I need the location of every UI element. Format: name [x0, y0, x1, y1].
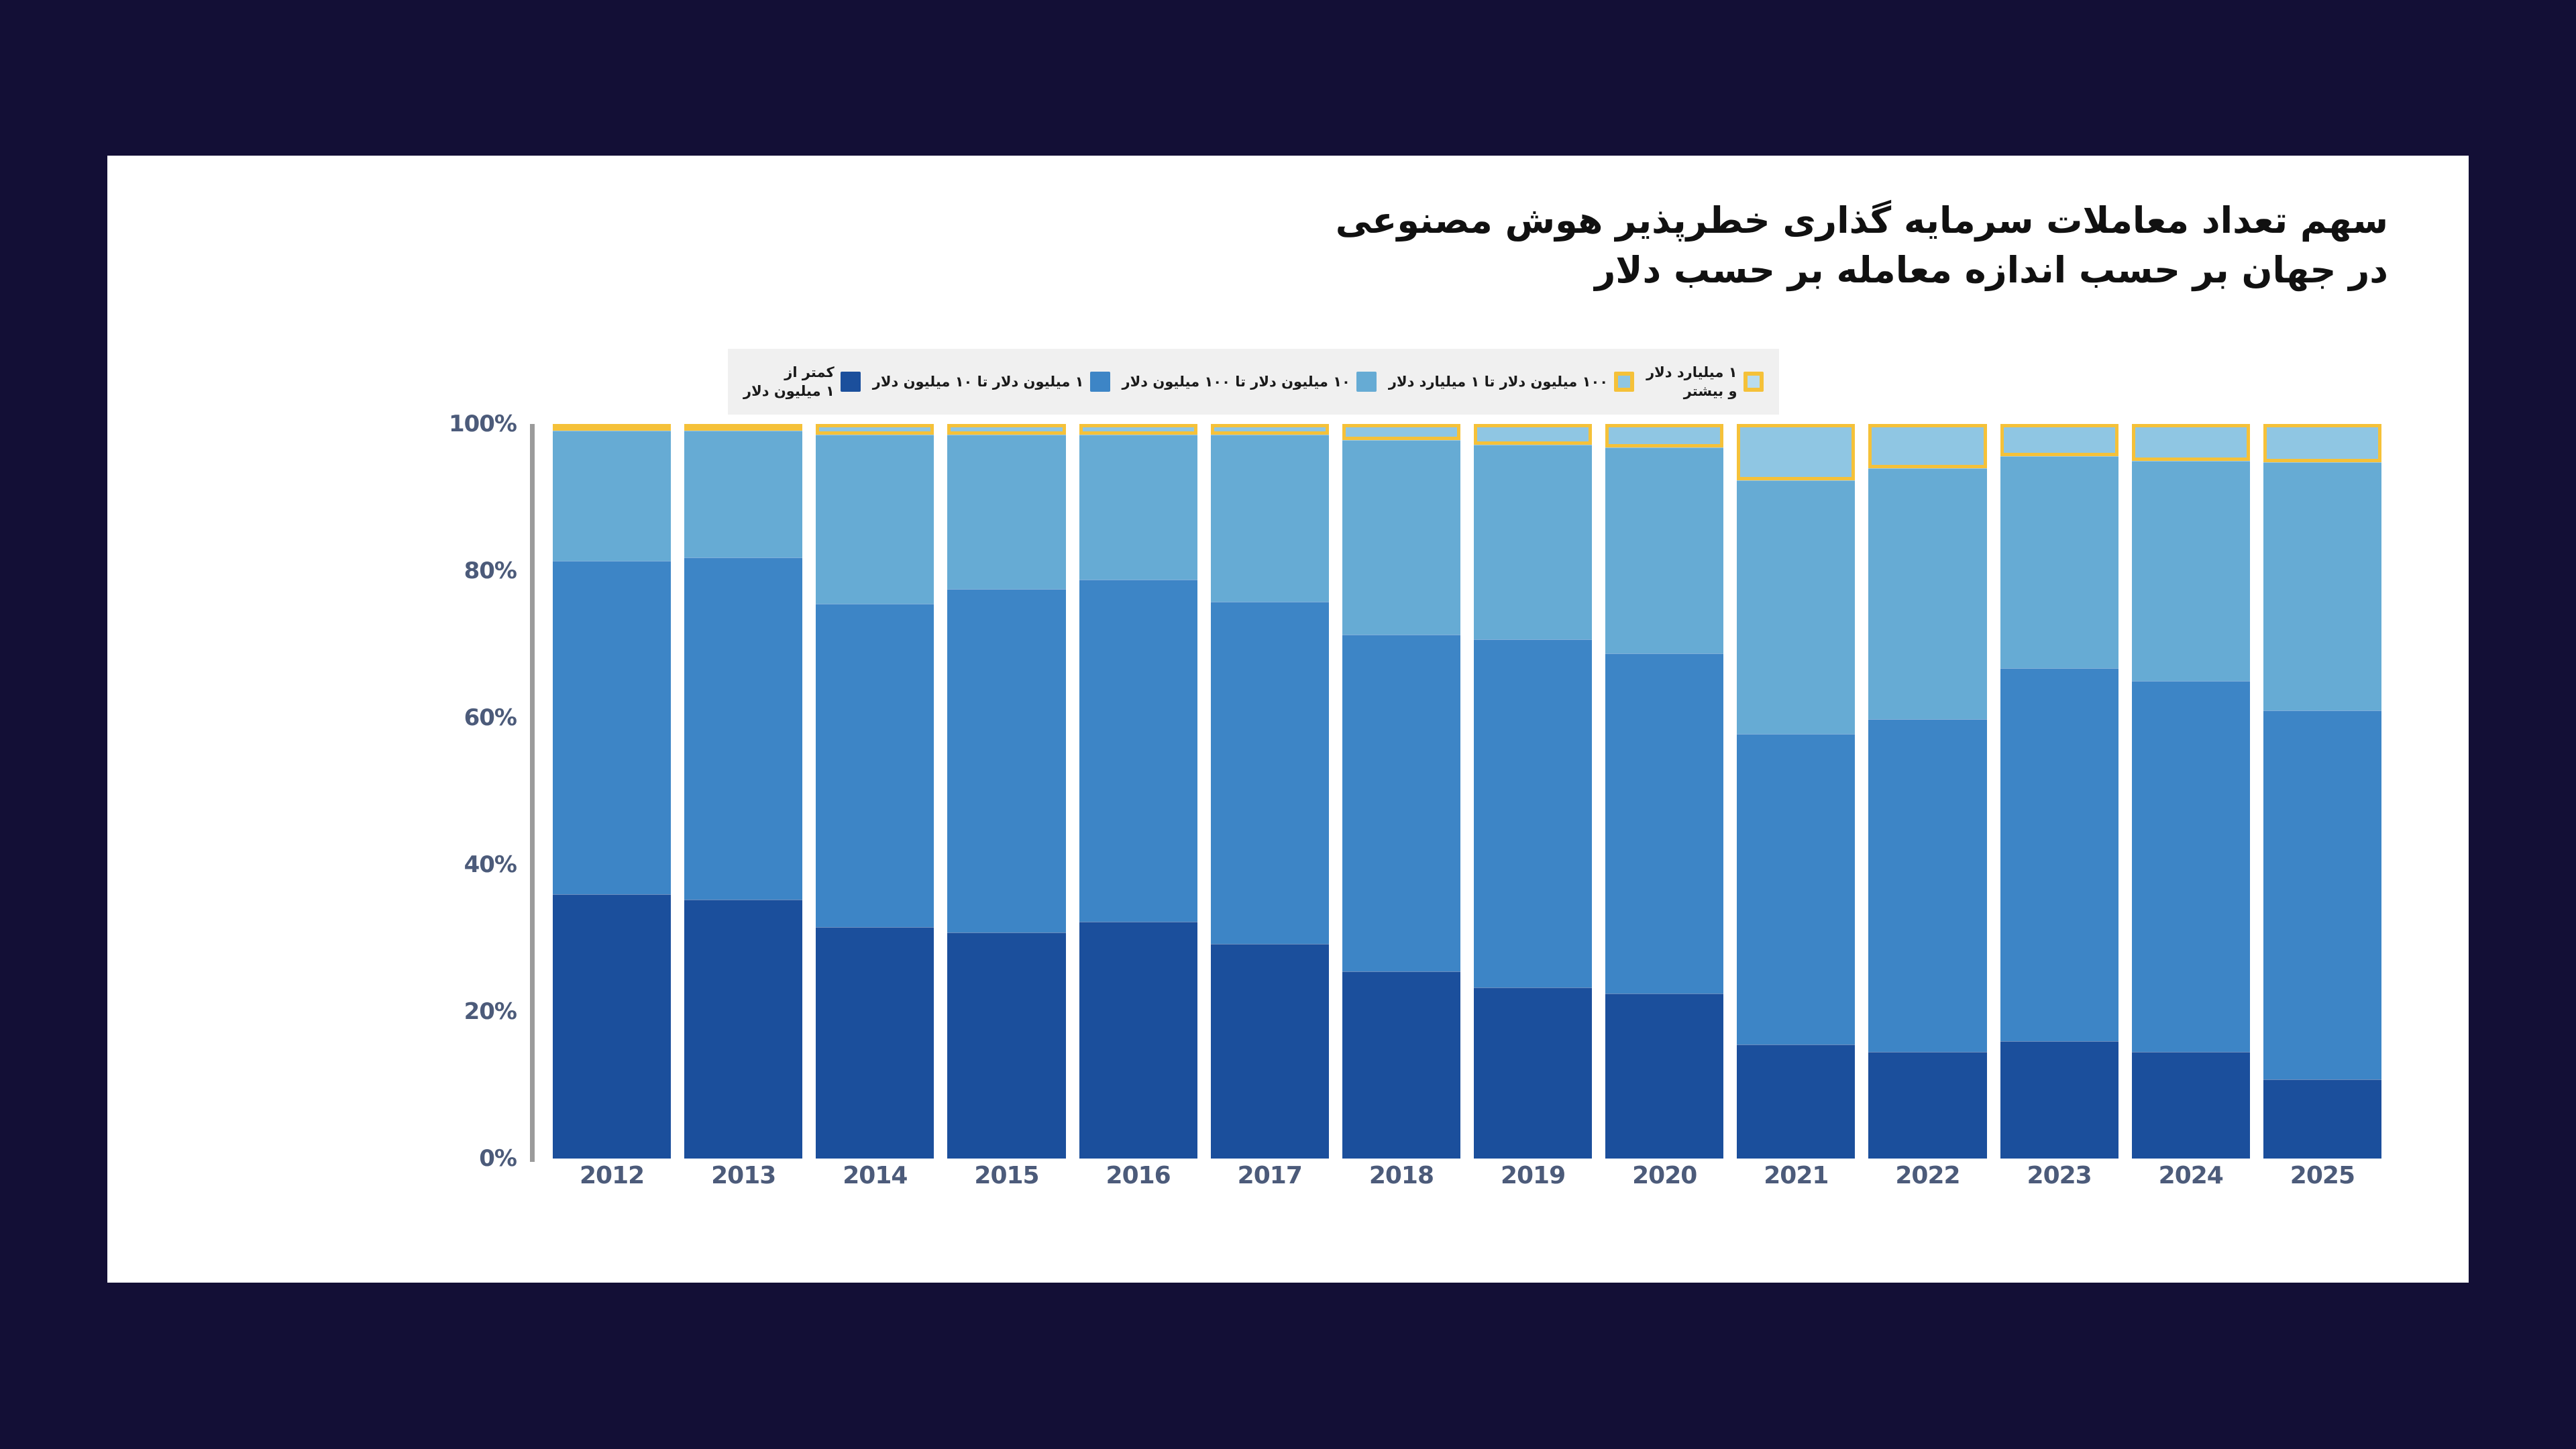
- bar-segment[interactable]: [1211, 424, 1329, 435]
- bar-column[interactable]: [1599, 424, 1730, 1159]
- bar-segment[interactable]: [816, 927, 934, 1159]
- legend-swatch-icon: [841, 372, 861, 392]
- y-axis-tick-label: 100%: [449, 411, 517, 437]
- bar-segment[interactable]: [684, 557, 802, 900]
- bar-segment[interactable]: [1868, 468, 1986, 719]
- x-axis-tick-label: 2023: [1994, 1162, 2125, 1209]
- bar-segment[interactable]: [2000, 456, 2118, 667]
- bar-segment[interactable]: [553, 561, 671, 894]
- bar-segment[interactable]: [1605, 994, 1723, 1159]
- x-axis-tick-label: 2024: [2125, 1162, 2257, 1209]
- bar-segment[interactable]: [1605, 424, 1723, 447]
- bar-column[interactable]: [2125, 424, 2257, 1159]
- bar-column[interactable]: [1336, 424, 1467, 1159]
- bar-stack: [2263, 424, 2381, 1159]
- chart-plot-area: 0%20%40%60%80%100%: [423, 424, 2388, 1159]
- bar-segment[interactable]: [1737, 480, 1855, 734]
- bar-segment[interactable]: [1079, 922, 1197, 1159]
- bar-segment[interactable]: [1605, 653, 1723, 994]
- x-axis-tick-label: 2012: [546, 1162, 678, 1209]
- x-axis-tick-label: 2021: [1730, 1162, 1862, 1209]
- legend-item[interactable]: ۱ میلیارد دلار و بیشتر: [1640, 363, 1769, 400]
- bar-stack: [947, 424, 1065, 1159]
- bar-segment[interactable]: [947, 424, 1065, 435]
- x-axis-tick-label: 2019: [1467, 1162, 1599, 1209]
- bar-segment[interactable]: [1868, 1052, 1986, 1159]
- bar-column[interactable]: [2257, 424, 2388, 1159]
- bar-stack: [553, 424, 671, 1159]
- bar-stack: [1868, 424, 1986, 1159]
- bar-stack: [684, 424, 802, 1159]
- bar-segment[interactable]: [2263, 462, 2381, 710]
- bar-segment[interactable]: [684, 424, 802, 431]
- bar-stack: [2132, 424, 2250, 1159]
- legend-item[interactable]: ۱۰۰ میلیون دلار تا ۱ میلیارد دلار: [1383, 372, 1640, 392]
- bar-segment[interactable]: [816, 424, 934, 435]
- bar-stack: [2000, 424, 2118, 1159]
- bar-segment[interactable]: [1737, 1044, 1855, 1159]
- bar-segment[interactable]: [816, 435, 934, 604]
- y-axis-tick-label: 60%: [464, 704, 517, 731]
- bar-segment[interactable]: [1211, 944, 1329, 1159]
- bar-segment[interactable]: [1474, 424, 1592, 445]
- bar-segment[interactable]: [553, 424, 671, 431]
- bar-segment[interactable]: [1474, 445, 1592, 639]
- screenshot-root: سهم تعداد معاملات سرمایه گذاری خطرپذیر ه…: [0, 0, 2576, 1449]
- x-axis-tick-label: 2018: [1336, 1162, 1467, 1209]
- bar-segment[interactable]: [947, 435, 1065, 589]
- bar-stack: [816, 424, 934, 1159]
- bar-segment[interactable]: [1342, 424, 1460, 440]
- bar-segment[interactable]: [947, 932, 1065, 1159]
- x-axis-tick-label: 2013: [678, 1162, 809, 1209]
- bar-segment[interactable]: [2000, 668, 2118, 1041]
- chart-card: سهم تعداد معاملات سرمایه گذاری خطرپذیر ه…: [107, 156, 2469, 1283]
- bar-segment[interactable]: [1211, 602, 1329, 944]
- bar-column[interactable]: [809, 424, 941, 1159]
- bar-segment[interactable]: [684, 900, 802, 1159]
- bar-column[interactable]: [1073, 424, 1204, 1159]
- bar-segment[interactable]: [2263, 710, 2381, 1079]
- bar-segment[interactable]: [684, 431, 802, 557]
- x-axis-tick-label: 2015: [941, 1162, 1072, 1209]
- y-axis: 0%20%40%60%80%100%: [423, 424, 530, 1159]
- bar-segment[interactable]: [553, 894, 671, 1159]
- bar-segment[interactable]: [2000, 1041, 2118, 1159]
- bar-column[interactable]: [1862, 424, 1993, 1159]
- bar-column[interactable]: [1204, 424, 1336, 1159]
- bar-stack: [1211, 424, 1329, 1159]
- bar-segment[interactable]: [1737, 734, 1855, 1044]
- bar-stack: [1474, 424, 1592, 1159]
- title-line-1: سهم تعداد معاملات سرمایه گذاری خطرپذیر ه…: [644, 196, 2388, 246]
- legend-swatch-icon: [1090, 372, 1110, 392]
- y-axis-line: [530, 424, 535, 1162]
- bar-segment[interactable]: [1079, 580, 1197, 922]
- legend-swatch-icon: [1356, 372, 1377, 392]
- bar-segment[interactable]: [1474, 639, 1592, 987]
- bar-segment[interactable]: [1342, 440, 1460, 635]
- bar-column[interactable]: [546, 424, 678, 1159]
- bar-segment[interactable]: [1079, 424, 1197, 435]
- chart-legend: کمتر از ۱ میلیون دلار۱ میلیون دلار تا ۱۰…: [728, 349, 1779, 415]
- bar-segment[interactable]: [2263, 1079, 2381, 1159]
- bar-stack: [1342, 424, 1460, 1159]
- x-axis-tick-label: 2014: [809, 1162, 941, 1209]
- x-axis-tick-label: 2020: [1599, 1162, 1730, 1209]
- legend-item-label: ۱۰۰ میلیون دلار تا ۱ میلیارد دلار: [1389, 372, 1608, 391]
- bar-segment[interactable]: [2132, 461, 2250, 682]
- x-axis-tick-label: 2016: [1073, 1162, 1204, 1209]
- bar-column[interactable]: [678, 424, 809, 1159]
- page-title: سهم تعداد معاملات سرمایه گذاری خطرپذیر ه…: [644, 196, 2388, 295]
- bar-segment[interactable]: [947, 589, 1065, 932]
- bar-group: [546, 424, 2388, 1159]
- bar-segment[interactable]: [2000, 424, 2118, 456]
- legend-item-label: ۱ میلیارد دلار و بیشتر: [1646, 363, 1737, 400]
- y-axis-tick-label: 20%: [464, 998, 517, 1025]
- bar-segment[interactable]: [1868, 719, 1986, 1052]
- bar-segment[interactable]: [2132, 1052, 2250, 1159]
- bar-column[interactable]: [1730, 424, 1862, 1159]
- bar-stack: [1079, 424, 1197, 1159]
- bar-segment[interactable]: [1342, 635, 1460, 971]
- bar-segment[interactable]: [816, 604, 934, 927]
- y-axis-tick-label: 0%: [479, 1145, 517, 1172]
- legend-item-label: ۱ میلیون دلار تا ۱۰ میلیون دلار: [873, 372, 1084, 391]
- legend-item-label: ۱۰ میلیون دلار تا ۱۰۰ میلیون دلار: [1122, 372, 1350, 391]
- bar-segment[interactable]: [1605, 447, 1723, 653]
- bar-segment[interactable]: [1211, 435, 1329, 602]
- bar-segment[interactable]: [1737, 424, 1855, 480]
- bar-segment[interactable]: [553, 431, 671, 561]
- x-axis-tick-label: 2017: [1204, 1162, 1336, 1209]
- bar-column[interactable]: [1467, 424, 1599, 1159]
- bar-stack: [1605, 424, 1723, 1159]
- bar-segment[interactable]: [2132, 681, 2250, 1052]
- bar-segment[interactable]: [2132, 424, 2250, 461]
- y-axis-tick-label: 80%: [464, 557, 517, 584]
- y-axis-tick-label: 40%: [464, 851, 517, 878]
- title-line-2: در جهان بر حسب اندازه معامله بر حسب دلار: [644, 246, 2388, 295]
- bar-segment[interactable]: [1868, 424, 1986, 468]
- bar-segment[interactable]: [2263, 424, 2381, 462]
- legend-swatch-icon: [1743, 372, 1764, 392]
- bar-column[interactable]: [941, 424, 1072, 1159]
- legend-item[interactable]: ۱۰ میلیون دلار تا ۱۰۰ میلیون دلار: [1116, 372, 1383, 392]
- x-axis: 2012201320142015201620172018201920202021…: [546, 1162, 2388, 1209]
- bar-column[interactable]: [1994, 424, 2125, 1159]
- legend-item[interactable]: کمتر از ۱ میلیون دلار: [737, 363, 867, 400]
- bar-stack: [1737, 424, 1855, 1159]
- bar-segment[interactable]: [1342, 971, 1460, 1159]
- x-axis-tick-label: 2025: [2257, 1162, 2388, 1209]
- x-axis-tick-label: 2022: [1862, 1162, 1993, 1209]
- legend-swatch-icon: [1614, 372, 1634, 392]
- bar-segment[interactable]: [1474, 987, 1592, 1159]
- legend-item-label: کمتر از ۱ میلیون دلار: [743, 363, 835, 400]
- legend-item[interactable]: ۱ میلیون دلار تا ۱۰ میلیون دلار: [867, 372, 1116, 392]
- bar-segment[interactable]: [1079, 435, 1197, 580]
